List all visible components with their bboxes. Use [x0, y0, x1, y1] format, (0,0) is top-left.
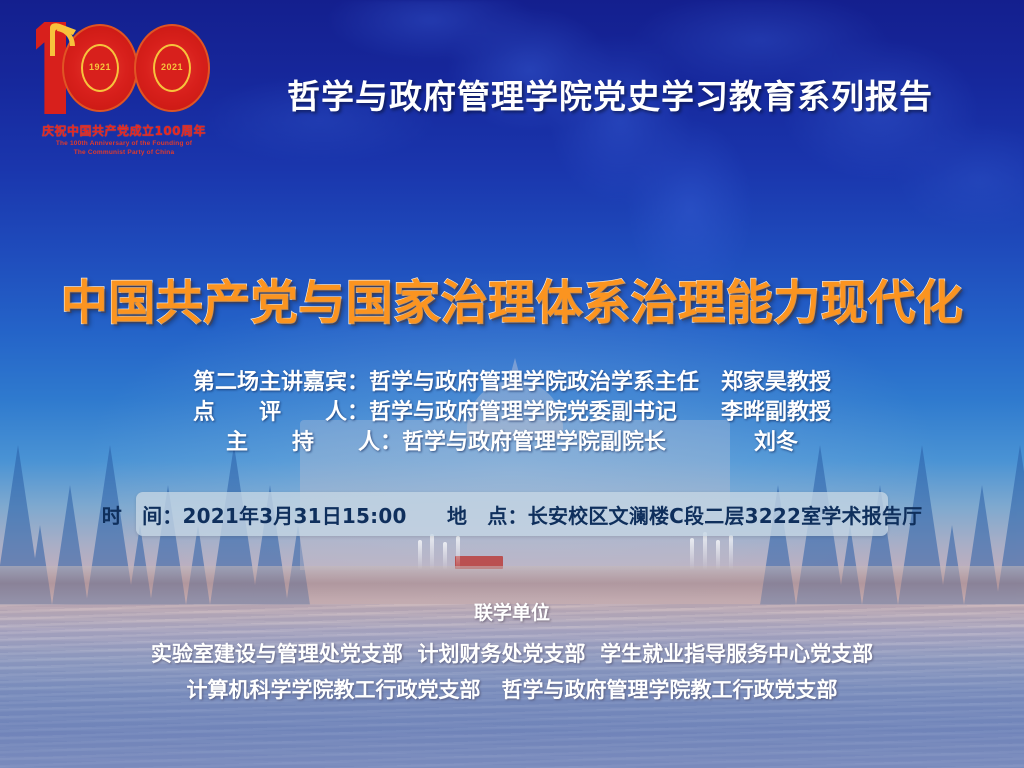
hammer-and-sickle-emblem: [42, 20, 82, 62]
joint-study-units-title: 联学单位: [0, 598, 1024, 625]
logo-100-digits: 1921 2021: [26, 14, 222, 118]
logo-caption-en: The 100th Anniversary of the Founding of…: [26, 139, 222, 158]
poster-canvas: 1921 2021 庆祝中国共产党成立100周年 The 100th Anniv…: [0, 0, 1024, 768]
banner-title: 哲学与政府管理学院党史学习教育系列报告: [230, 70, 990, 118]
logo-year-1921: 1921: [62, 62, 138, 72]
logo-year-2021: 2021: [134, 62, 210, 72]
speaker-roles-block: 第二场主讲嘉宾：哲学与政府管理学院政治学系主任 郑家昊教授 点 评 人：哲学与政…: [0, 368, 1024, 458]
unit-line-1: 实验室建设与管理处党支部 计划财务处党支部 学生就业指导服务中心党支部: [0, 636, 1024, 672]
joint-study-units-list: 实验室建设与管理处党支部 计划财务处党支部 学生就业指导服务中心党支部 计算机科…: [0, 636, 1024, 708]
anniversary-logo: 1921 2021 庆祝中国共产党成立100周年 The 100th Anniv…: [26, 14, 222, 169]
role-line-host: 主 持 人：哲学与政府管理学院副院长 刘冬: [0, 428, 1024, 458]
role-line-commenter: 点 评 人：哲学与政府管理学院党委副书记 李晔副教授: [0, 398, 1024, 428]
time-place-bar: 时 间：2021年3月31日15:00 地 点：长安校区文澜楼C段二层3222室…: [136, 492, 888, 536]
role-line-speaker: 第二场主讲嘉宾：哲学与政府管理学院政治学系主任 郑家昊教授: [0, 368, 1024, 398]
time-place-text: 时 间：2021年3月31日15:00 地 点：长安校区文澜楼C段二层3222室…: [102, 500, 923, 529]
logo-caption-cn: 庆祝中国共产党成立100周年: [26, 122, 222, 139]
main-title: 中国共产党与国家治理体系治理能力现代化: [0, 264, 1024, 333]
unit-line-2: 计算机科学学院教工行政党支部 哲学与政府管理学院教工行政党支部: [0, 672, 1024, 708]
